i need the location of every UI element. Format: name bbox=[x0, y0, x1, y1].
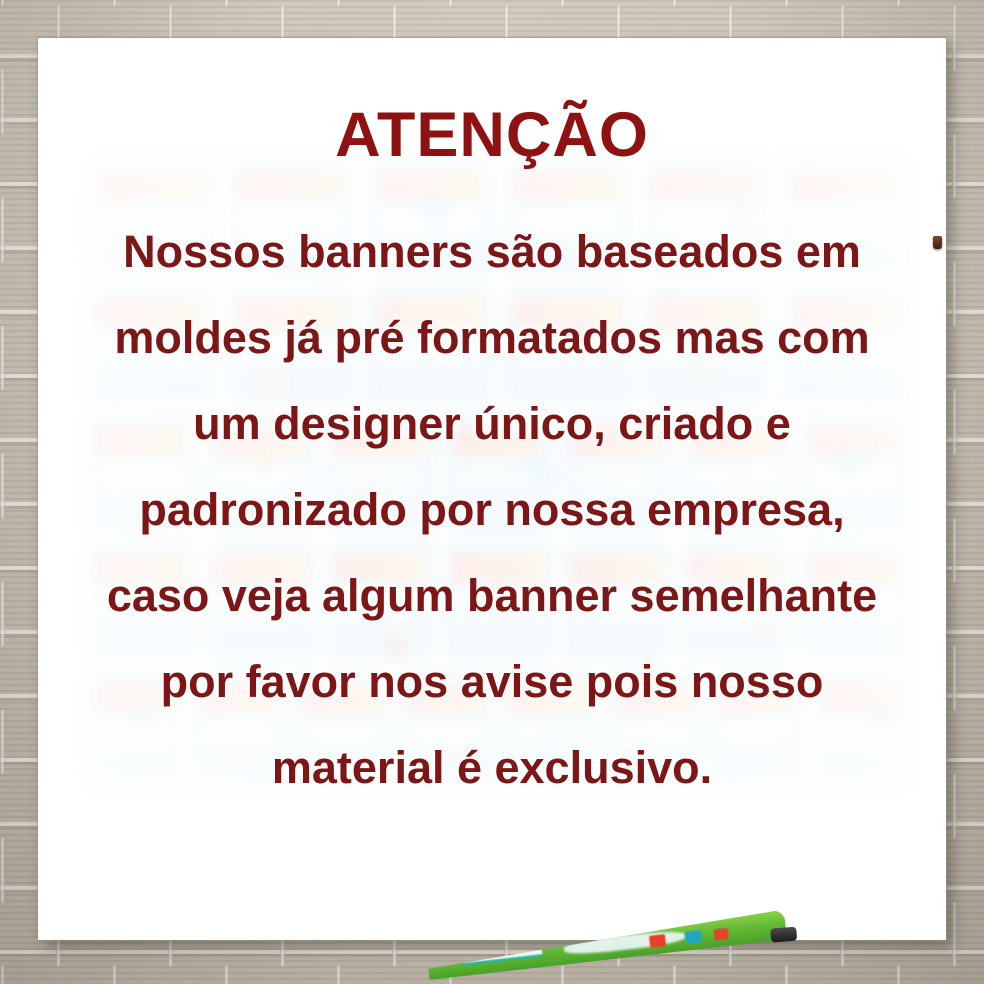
poster-panel: ATENÇÃO Nossos banners são baseados emmo… bbox=[38, 38, 946, 940]
scene: ATENÇÃO Nossos banners são baseados emmo… bbox=[0, 0, 984, 984]
banner-dot bbox=[685, 930, 702, 944]
poster-body-line: um designer único, criado e bbox=[193, 381, 791, 467]
banner-label bbox=[563, 929, 686, 957]
poster-body-line: por favor nos avise pois nosso bbox=[161, 639, 824, 725]
poster-body-line: material é exclusivo. bbox=[272, 725, 712, 811]
poster-body-line: Nossos banners são baseados em bbox=[123, 209, 861, 295]
poster-content: ATENÇÃO Nossos banners são baseados emmo… bbox=[38, 38, 946, 940]
wall-nail-icon bbox=[933, 236, 942, 249]
banner-strip bbox=[463, 947, 543, 965]
banner-end-cap bbox=[770, 927, 797, 943]
poster-body-line: padronizado por nossa empresa, bbox=[139, 467, 844, 553]
banner-dot bbox=[714, 928, 729, 941]
poster-body-line: caso veja algum banner semelhante bbox=[107, 553, 877, 639]
poster-body-line: moldes já pré formatados mas com bbox=[114, 295, 869, 381]
banner-dot bbox=[649, 934, 666, 948]
page-title: ATENÇÃO bbox=[335, 104, 649, 167]
poster-body: Nossos banners são baseados emmoldes já … bbox=[38, 209, 946, 811]
